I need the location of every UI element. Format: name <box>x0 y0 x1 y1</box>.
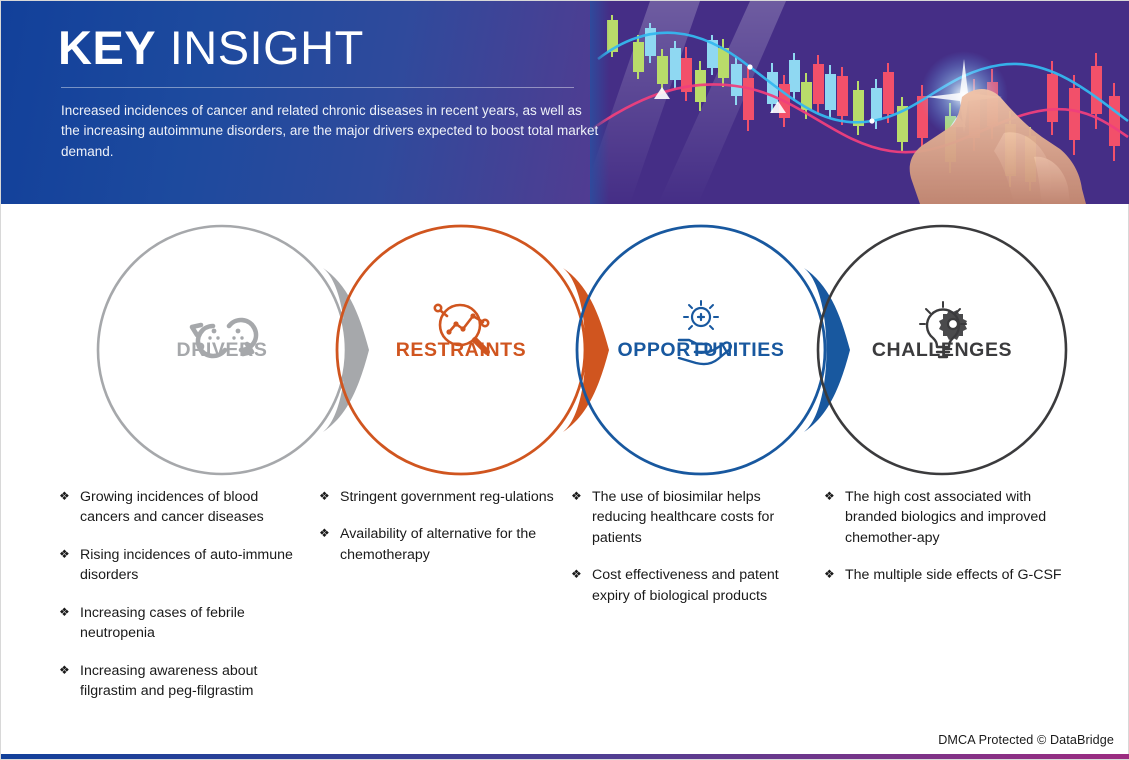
list-item-text: Cost effectiveness and patent expiry of … <box>592 567 779 603</box>
list-item: ❖Cost effectiveness and patent expiry of… <box>571 565 816 606</box>
list-item-text: The high cost associated with branded bi… <box>845 489 1046 546</box>
stage-label-challenges: CHALLENGES <box>842 339 1042 362</box>
list-item: ❖Growing incidences of blood cancers and… <box>59 487 311 528</box>
footer-gradient-bar <box>1 754 1129 759</box>
bullet-columns: ❖Growing incidences of blood cancers and… <box>1 487 1129 737</box>
header-banner: KEY INSIGHT Increased incidences of canc… <box>1 1 1129 204</box>
list-item-text: Availability of alternative for the chem… <box>340 526 536 562</box>
list-item-text: Increasing awareness about filgrastim an… <box>80 663 257 699</box>
bullet-marker-icon: ❖ <box>824 565 835 584</box>
list-item: ❖Stringent government reg-ulations <box>319 487 571 507</box>
list-item-text: The use of biosimilar helps reducing hea… <box>592 489 774 546</box>
bullet-column-challenges: ❖The high cost associated with branded b… <box>824 487 1069 603</box>
bullet-marker-icon: ❖ <box>59 545 70 564</box>
stage-diagram: DRIVERS RESTRAINTS OPPORTUNITIES CHALLEN… <box>1 204 1129 499</box>
bullet-column-restraints: ❖Stringent government reg-ulations ❖Avai… <box>319 487 571 582</box>
bullet-column-drivers: ❖Growing incidences of blood cancers and… <box>59 487 311 719</box>
circle-label-layer: DRIVERS RESTRAINTS OPPORTUNITIES CHALLEN… <box>1 204 1129 499</box>
header-subtitle: Increased incidences of cancer and relat… <box>61 101 601 163</box>
page-title-light: INSIGHT <box>156 21 364 74</box>
bullet-marker-icon: ❖ <box>59 487 70 506</box>
list-item-text: Increasing cases of febrile neutropenia <box>80 605 245 641</box>
list-item-text: The multiple side effects of G-CSF <box>845 567 1062 583</box>
list-item: ❖The high cost associated with branded b… <box>824 487 1069 548</box>
list-item-text: Rising incidences of auto-immune disorde… <box>80 547 293 583</box>
title-divider <box>61 87 574 88</box>
bullet-marker-icon: ❖ <box>571 487 582 506</box>
bullet-marker-icon: ❖ <box>59 603 70 622</box>
stage-label-opportunities: OPPORTUNITIES <box>593 339 809 362</box>
list-item: ❖The multiple side effects of G-CSF <box>824 565 1069 585</box>
bullet-marker-icon: ❖ <box>319 487 330 506</box>
bullet-marker-icon: ❖ <box>571 565 582 584</box>
list-item: ❖Availability of alternative for the che… <box>319 524 571 565</box>
list-item-text: Stringent government reg-ulations <box>340 489 554 505</box>
list-item: ❖The use of biosimilar helps reducing he… <box>571 487 816 548</box>
bullet-marker-icon: ❖ <box>824 487 835 506</box>
page-title: KEY INSIGHT <box>58 23 618 74</box>
header-text-block: KEY INSIGHT Increased incidences of canc… <box>58 23 618 162</box>
infographic-page: KEY INSIGHT Increased incidences of canc… <box>0 0 1129 760</box>
stage-label-drivers: DRIVERS <box>122 339 322 362</box>
list-item: ❖Rising incidences of auto-immune disord… <box>59 545 311 586</box>
copyright-notice: DMCA Protected © DataBridge <box>938 733 1114 747</box>
header-chart-artwork <box>590 1 1129 204</box>
bullet-column-opportunities: ❖The use of biosimilar helps reducing he… <box>571 487 816 623</box>
bullet-marker-icon: ❖ <box>59 661 70 680</box>
list-item: ❖Increasing awareness about filgrastim a… <box>59 661 311 702</box>
page-title-bold: KEY <box>58 21 156 74</box>
stage-label-restraints: RESTRAINTS <box>361 339 561 362</box>
list-item-text: Growing incidences of blood cancers and … <box>80 489 264 525</box>
bullet-marker-icon: ❖ <box>319 524 330 543</box>
list-item: ❖Increasing cases of febrile neutropenia <box>59 603 311 644</box>
